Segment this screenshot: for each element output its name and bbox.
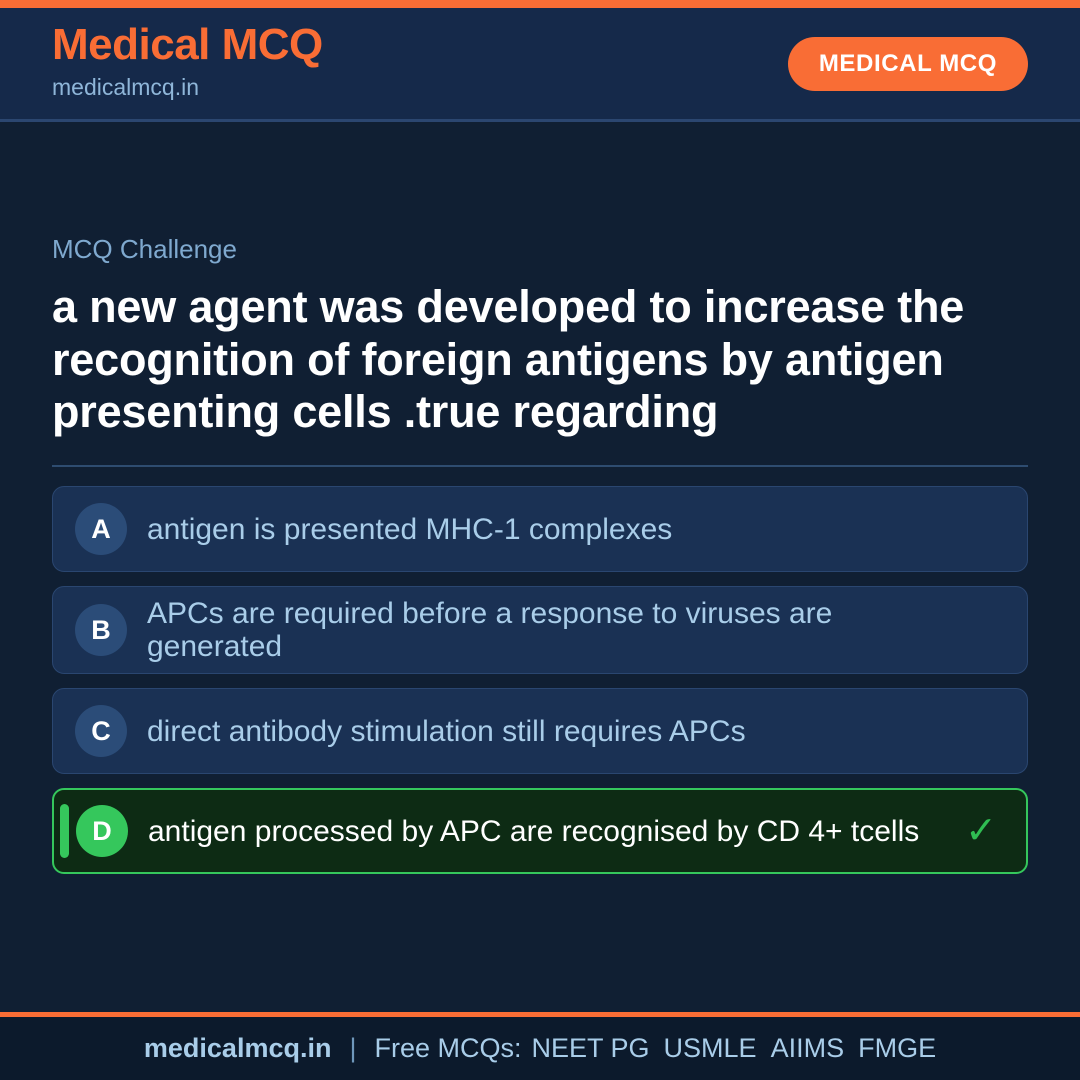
- option-letter-badge: B: [75, 604, 127, 656]
- question-text: a new agent was developed to increase th…: [52, 281, 992, 439]
- footer-exam-fmge[interactable]: FMGE: [858, 1033, 936, 1064]
- correct-accent-bar: [60, 804, 69, 858]
- top-accent-bar: [0, 0, 1080, 8]
- option-row[interactable]: B APCs are required before a response to…: [52, 586, 1028, 674]
- option-text: APCs are required before a response to v…: [147, 597, 959, 663]
- brand-title: Medical MCQ: [52, 22, 323, 68]
- footer: medicalmcq.in | Free MCQs: NEET PG USMLE…: [0, 1012, 1080, 1080]
- option-letter-badge: C: [75, 705, 127, 757]
- option-text: antigen processed by APC are recognised …: [148, 815, 958, 848]
- main-content: MCQ Challenge a new agent was developed …: [0, 122, 1080, 1012]
- footer-label: Free MCQs:: [374, 1033, 521, 1064]
- option-row[interactable]: C direct antibody stimulation still requ…: [52, 688, 1028, 774]
- eyebrow-label: MCQ Challenge: [52, 234, 1028, 265]
- footer-exam-neetpg[interactable]: NEET PG: [532, 1033, 650, 1064]
- option-letter-badge: D: [76, 805, 128, 857]
- header-badge[interactable]: MEDICAL MCQ: [788, 37, 1028, 91]
- question-divider: [52, 465, 1028, 467]
- footer-exam-aiims[interactable]: AIIMS: [771, 1033, 845, 1064]
- option-text: direct antibody stimulation still requir…: [147, 715, 959, 748]
- brand-domain: medicalmcq.in: [52, 70, 323, 105]
- footer-exam-usmle[interactable]: USMLE: [664, 1033, 757, 1064]
- brand-block: Medical MCQ medicalmcq.in: [52, 22, 323, 105]
- footer-separator: |: [349, 1033, 356, 1064]
- header: Medical MCQ medicalmcq.in MEDICAL MCQ: [0, 8, 1080, 122]
- check-icon: ✓: [958, 812, 1004, 850]
- mcq-card: Medical MCQ medicalmcq.in MEDICAL MCQ MC…: [0, 0, 1080, 1080]
- option-row[interactable]: A antigen is presented MHC-1 complexes: [52, 486, 1028, 572]
- option-letter-badge: A: [75, 503, 127, 555]
- option-text: antigen is presented MHC-1 complexes: [147, 513, 959, 546]
- footer-site-link[interactable]: medicalmcq.in: [144, 1033, 332, 1064]
- footer-text: medicalmcq.in | Free MCQs: NEET PG USMLE…: [144, 1033, 936, 1064]
- option-row-correct[interactable]: D antigen processed by APC are recognise…: [52, 788, 1028, 874]
- options-list: A antigen is presented MHC-1 complexes B…: [52, 486, 1028, 874]
